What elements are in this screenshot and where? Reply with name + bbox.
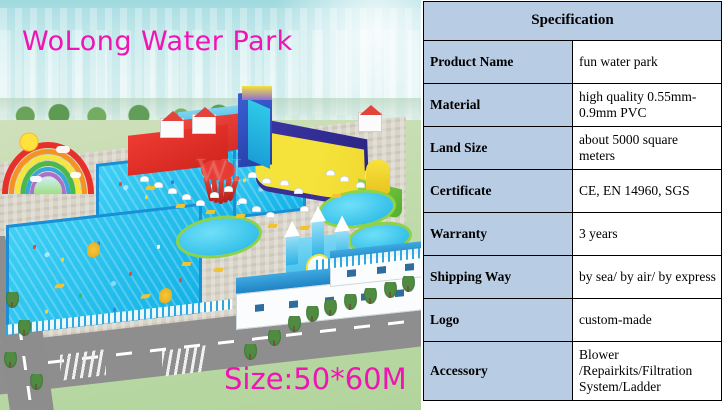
row-value-certificate: CE, EN 14960, SGS bbox=[573, 170, 722, 213]
sun-lounger bbox=[213, 268, 223, 272]
row-label-land-size: Land Size bbox=[424, 127, 573, 170]
building-window bbox=[255, 304, 264, 312]
tree bbox=[244, 344, 257, 360]
beach-umbrella bbox=[252, 206, 261, 212]
beach-umbrella bbox=[154, 182, 163, 188]
park-title-overlay: WoLong Water Park bbox=[22, 26, 293, 57]
table-row: Logo custom-made bbox=[424, 299, 722, 342]
kiosk-house bbox=[160, 118, 184, 138]
product-listing-page: WL WoLong Water Park Size:50*60M Specifi… bbox=[0, 0, 727, 410]
tree bbox=[30, 374, 43, 390]
swimmer bbox=[275, 188, 278, 192]
tree bbox=[306, 306, 319, 322]
tree bbox=[18, 320, 31, 336]
sun-lounger bbox=[181, 262, 191, 266]
table-row: Certificate CE, EN 14960, SGS bbox=[424, 170, 722, 213]
sun-lounger bbox=[175, 204, 185, 208]
swimmer bbox=[61, 258, 64, 262]
rainbow-arch-slide bbox=[2, 138, 94, 194]
sun-character-icon bbox=[18, 132, 40, 152]
product-photo: WL WoLong Water Park Size:50*60M bbox=[0, 0, 421, 410]
table-row: Shipping Way by sea/ by air/ by express bbox=[424, 256, 722, 299]
beach-umbrella bbox=[140, 176, 149, 182]
beach-umbrella bbox=[238, 198, 247, 204]
tree bbox=[4, 352, 17, 368]
table-row: Warranty 3 years bbox=[424, 213, 722, 256]
beach-umbrella bbox=[210, 192, 219, 198]
row-label-shipping-way: Shipping Way bbox=[424, 256, 573, 299]
beach-umbrella bbox=[248, 172, 257, 178]
row-value-material: high quality 0.55mm- 0.9mm PVC bbox=[573, 84, 722, 127]
beach-umbrella bbox=[262, 178, 271, 184]
row-value-product-name: fun water park bbox=[573, 41, 722, 84]
beach-umbrella bbox=[266, 212, 275, 218]
tree bbox=[268, 330, 281, 346]
row-value-shipping-way: by sea/ by air/ by express bbox=[573, 256, 722, 299]
row-value-logo: custom-made bbox=[573, 299, 722, 342]
table-row: Accessory Blower /Repairkits/Filtration … bbox=[424, 342, 722, 401]
swimmer bbox=[171, 180, 174, 184]
building-window bbox=[405, 263, 414, 271]
beach-umbrella bbox=[280, 180, 289, 186]
tree bbox=[344, 294, 357, 310]
tree bbox=[384, 282, 397, 298]
cloud-decor bbox=[30, 176, 42, 182]
tree bbox=[402, 276, 415, 292]
swimmer bbox=[33, 245, 36, 249]
tree bbox=[6, 292, 19, 308]
swimmer bbox=[79, 294, 82, 298]
crosswalk-center bbox=[162, 345, 206, 376]
sun-lounger bbox=[267, 224, 277, 228]
sun-lounger bbox=[235, 214, 245, 218]
table-row: Material high quality 0.55mm- 0.9mm PVC bbox=[424, 84, 722, 127]
beach-umbrella bbox=[196, 200, 205, 206]
mega-slide-blue-lane bbox=[248, 99, 270, 169]
beach-umbrella bbox=[356, 182, 365, 188]
specification-table: Specification Product Name fun water par… bbox=[423, 1, 722, 401]
table-row: Land Size about 5000 square meters bbox=[424, 127, 722, 170]
swimmer bbox=[145, 195, 148, 199]
row-value-land-size: about 5000 square meters bbox=[573, 127, 722, 170]
tree bbox=[324, 300, 337, 316]
building-window bbox=[289, 300, 298, 308]
building-window bbox=[347, 269, 356, 277]
table-row: Product Name fun water park bbox=[424, 41, 722, 84]
specification-table-body: Product Name fun water park Material hig… bbox=[424, 41, 722, 401]
sun-lounger bbox=[331, 194, 341, 198]
castle-tower-left bbox=[286, 234, 298, 265]
mega-slide-top-platform bbox=[242, 86, 272, 100]
cloud-decor bbox=[70, 172, 81, 178]
row-value-accessory: Blower /Repairkits/Filtration System/Lad… bbox=[573, 342, 722, 401]
castle-tower-center bbox=[312, 219, 324, 256]
beach-umbrella bbox=[294, 188, 303, 194]
swimmer bbox=[129, 272, 132, 276]
swimmer bbox=[179, 278, 182, 282]
sun-lounger bbox=[145, 186, 155, 190]
specification-title: Specification bbox=[424, 2, 722, 41]
row-label-logo: Logo bbox=[424, 299, 573, 342]
sun-lounger bbox=[205, 210, 215, 214]
row-label-product-name: Product Name bbox=[424, 41, 573, 84]
row-value-warranty: 3 years bbox=[573, 213, 722, 256]
tree bbox=[288, 316, 301, 332]
beach-umbrella bbox=[224, 186, 233, 192]
swimmer bbox=[45, 309, 48, 313]
park-size-overlay: Size:50*60M bbox=[224, 362, 407, 396]
kiosk-house bbox=[192, 114, 216, 134]
beach-umbrella bbox=[168, 188, 177, 194]
beach-umbrella bbox=[340, 176, 349, 182]
beach-umbrella bbox=[300, 206, 309, 212]
swimmer bbox=[119, 182, 122, 186]
building-window bbox=[377, 266, 386, 274]
row-label-material: Material bbox=[424, 84, 573, 127]
row-label-warranty: Warranty bbox=[424, 213, 573, 256]
row-label-certificate: Certificate bbox=[424, 170, 573, 213]
kiosk-house bbox=[358, 112, 382, 132]
row-label-accessory: Accessory bbox=[424, 342, 573, 401]
tree bbox=[364, 288, 377, 304]
table-header-row: Specification bbox=[424, 2, 722, 41]
beach-umbrella bbox=[182, 194, 191, 200]
specification-panel: Specification Product Name fun water par… bbox=[421, 0, 727, 410]
swimmer bbox=[157, 245, 160, 249]
sun-lounger bbox=[299, 226, 309, 230]
beach-umbrella bbox=[326, 170, 335, 176]
cloud-decor bbox=[56, 146, 70, 153]
